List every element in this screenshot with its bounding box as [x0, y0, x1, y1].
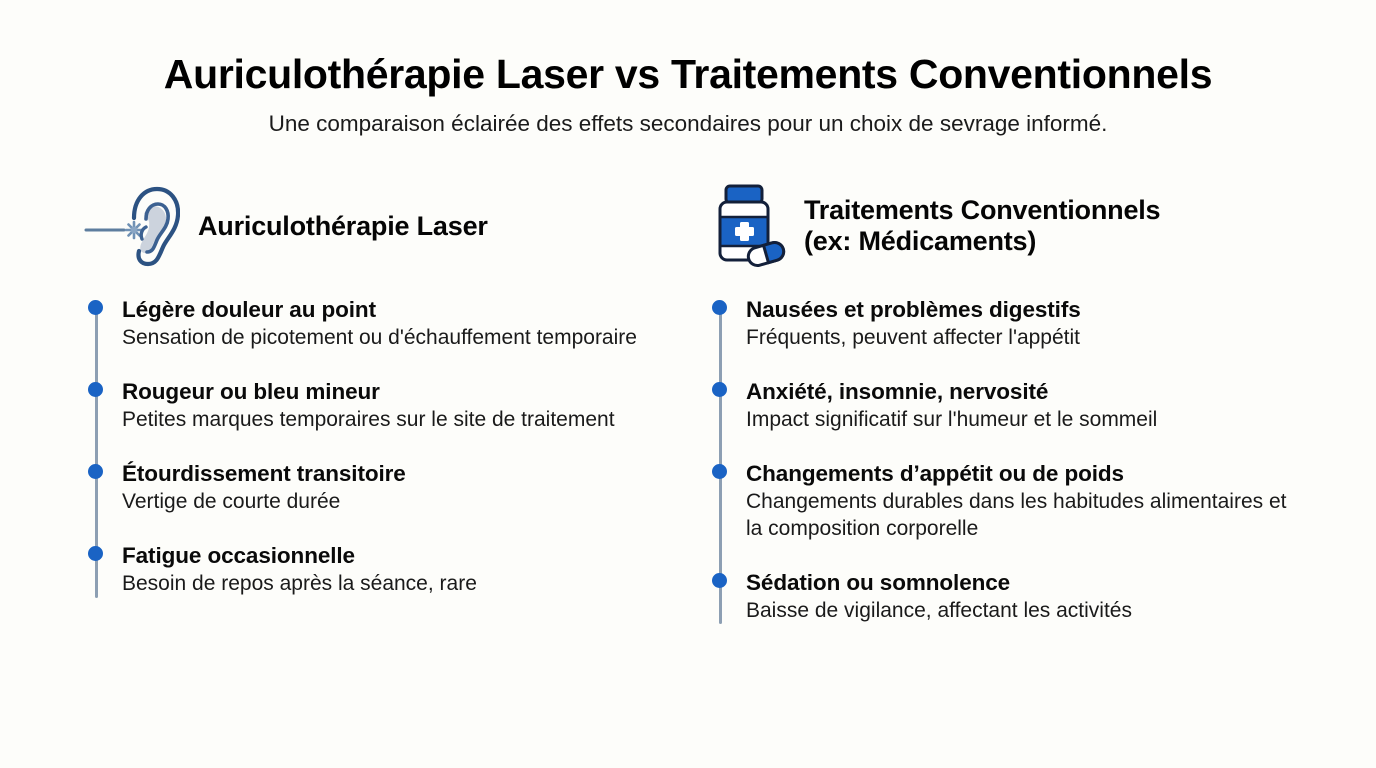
column-title-right: Traitements Conventionnels(ex: Médicamen…: [804, 195, 1160, 257]
list-item-description: Vertige de courte durée: [122, 489, 664, 516]
column-traitements-conventionnels: Traitements Conventionnels(ex: Médicamen…: [688, 178, 1376, 624]
list-item-title: Étourdissement transitoire: [122, 460, 664, 487]
side-effects-list-left: Légère douleur au point Sensation de pic…: [84, 296, 664, 598]
list-item: Anxiété, insomnie, nervosité Impact sign…: [746, 378, 1306, 434]
bullet-marker: [88, 546, 103, 561]
pill-bottle-icon: [708, 180, 786, 272]
ear-laser-icon: [84, 180, 180, 272]
list-item: Rougeur ou bleu mineur Petites marques t…: [122, 378, 664, 434]
column-header-left: Auriculothérapie Laser: [84, 178, 664, 274]
column-title-right-line2: (ex: Médicaments): [804, 226, 1036, 256]
list-item-description: Besoin de repos après la séance, rare: [122, 571, 664, 598]
list-item-title: Fatigue occasionnelle: [122, 542, 664, 569]
list-item: Sédation ou somnolence Baisse de vigilan…: [746, 569, 1306, 625]
side-effects-list-right: Nausées et problèmes digestifs Fréquents…: [708, 296, 1306, 624]
column-header-right: Traitements Conventionnels(ex: Médicamen…: [708, 178, 1306, 274]
list-item-title: Anxiété, insomnie, nervosité: [746, 378, 1306, 405]
bullet-marker: [88, 382, 103, 397]
column-title-right-line1: Traitements Conventionnels: [804, 195, 1160, 225]
list-item-description: Changements durables dans les habitudes …: [746, 489, 1306, 543]
list-item-title: Changements d’appétit ou de poids: [746, 460, 1306, 487]
list-item: Légère douleur au point Sensation de pic…: [122, 296, 664, 352]
list-item: Nausées et problèmes digestifs Fréquents…: [746, 296, 1306, 352]
list-item-description: Petites marques temporaires sur le site …: [122, 407, 664, 434]
page-subtitle: Une comparaison éclairée des effets seco…: [0, 110, 1376, 137]
list-item: Changements d’appétit ou de poids Change…: [746, 460, 1306, 543]
infographic-page: Auriculothérapie Laser vs Traitements Co…: [0, 0, 1376, 768]
list-item-title: Légère douleur au point: [122, 296, 664, 323]
bullet-marker: [712, 382, 727, 397]
list-item-description: Baisse de vigilance, affectant les activ…: [746, 598, 1306, 625]
page-title: Auriculothérapie Laser vs Traitements Co…: [0, 52, 1376, 98]
column-title-left: Auriculothérapie Laser: [198, 211, 488, 242]
header: Auriculothérapie Laser vs Traitements Co…: [0, 0, 1376, 137]
list-item-title: Rougeur ou bleu mineur: [122, 378, 664, 405]
list-item-title: Sédation ou somnolence: [746, 569, 1306, 596]
bullet-marker: [712, 573, 727, 588]
bullet-marker: [712, 300, 727, 315]
list-item: Étourdissement transitoire Vertige de co…: [122, 460, 664, 516]
list-item-description: Fréquents, peuvent affecter l'appétit: [746, 325, 1306, 352]
list-item-description: Sensation de picotement ou d'échauffemen…: [122, 325, 664, 352]
list-item-description: Impact significatif sur l'humeur et le s…: [746, 407, 1306, 434]
list-item: Fatigue occasionnelle Besoin de repos ap…: [122, 542, 664, 598]
bullet-marker: [712, 464, 727, 479]
list-item-title: Nausées et problèmes digestifs: [746, 296, 1306, 323]
comparison-columns: Auriculothérapie Laser Légère douleur au…: [0, 178, 1376, 624]
column-auriculotherapie-laser: Auriculothérapie Laser Légère douleur au…: [0, 178, 688, 624]
bullet-marker: [88, 300, 103, 315]
bullet-marker: [88, 464, 103, 479]
